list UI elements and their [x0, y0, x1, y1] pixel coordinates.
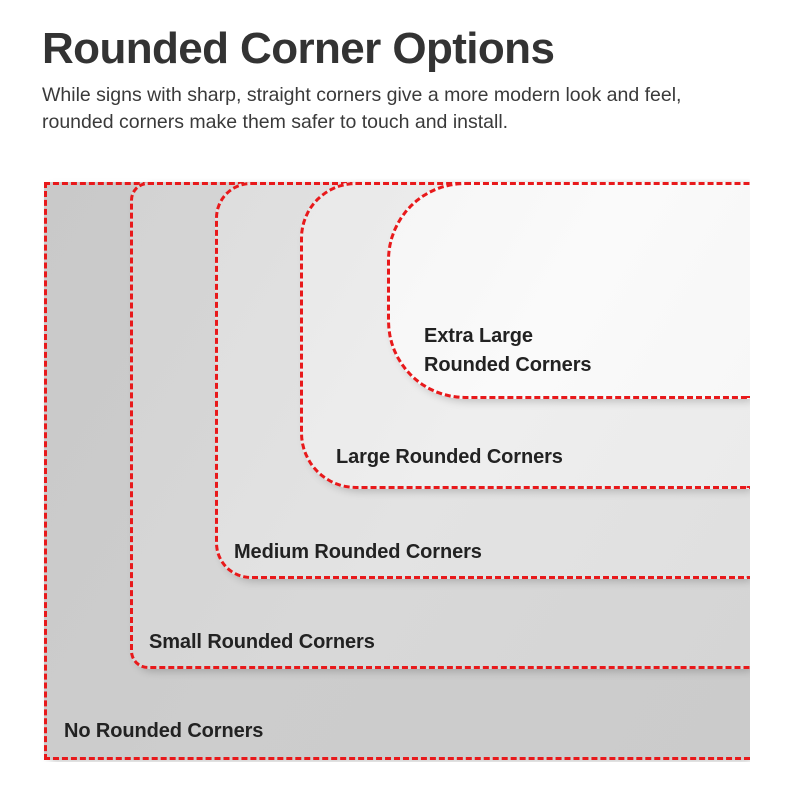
rounded-corner-diagram: Extra Large Rounded Corners Large Rounde…	[0, 0, 800, 800]
corner-label-medium-rounded: Medium Rounded Corners	[234, 538, 482, 567]
bottom-edge-mask	[0, 762, 800, 800]
corner-label-extra-large-rounded: Extra Large Rounded Corners	[424, 322, 591, 380]
corner-label-no-rounded: No Rounded Corners	[64, 717, 263, 746]
corner-label-small-rounded: Small Rounded Corners	[149, 628, 375, 657]
right-edge-mask	[750, 0, 800, 800]
corner-label-large-rounded: Large Rounded Corners	[336, 443, 563, 472]
